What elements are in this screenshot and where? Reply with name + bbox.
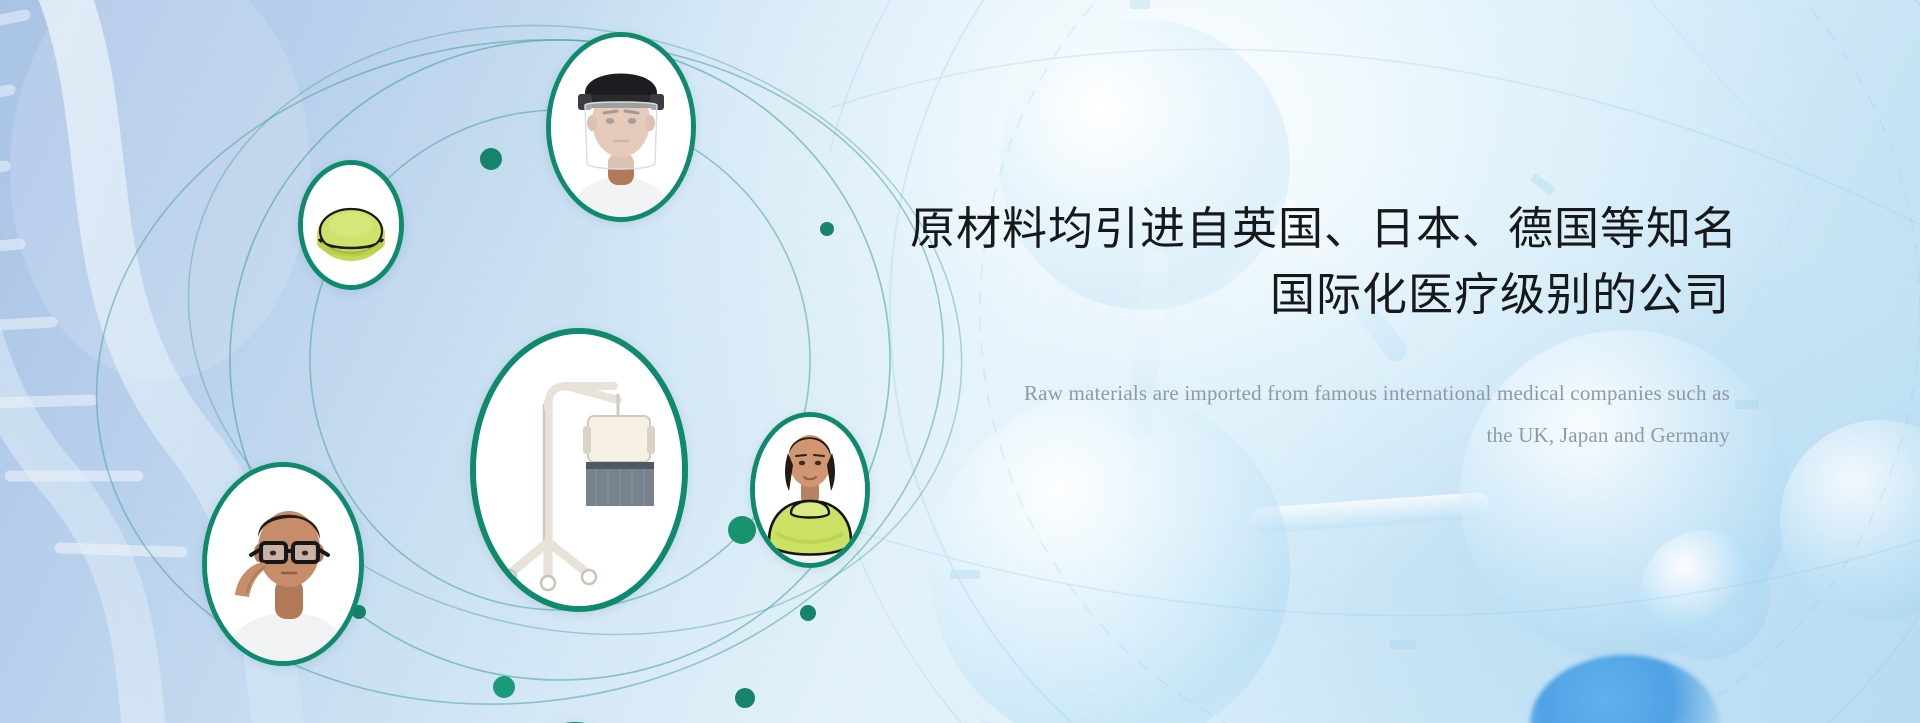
orbit-node-dot (800, 605, 816, 621)
orbit-node-dot (480, 148, 502, 170)
orbit-node-dot (735, 688, 755, 708)
heading-line-1: 原材料均引进自英国、日本、德国等知名 (910, 202, 1738, 255)
molecule-sphere (1780, 420, 1920, 620)
orbit-node-dot (493, 676, 515, 698)
orbit-cluster (0, 0, 1000, 723)
thyroid-collar-photo (755, 417, 865, 563)
product-bubble-mobile-screen[interactable] (470, 328, 688, 612)
heading-line-2: 国际化医疗级别的公司 (910, 262, 1730, 328)
lead-cap-photo (303, 165, 399, 285)
orbit-node-dot (820, 222, 834, 236)
page-title: 原材料均引进自英国、日本、德国等知名 国际化医疗级别的公司 (910, 196, 1730, 328)
molecule-sphere-accent (1530, 655, 1720, 723)
face-shield-helmet-photo (551, 37, 691, 217)
hero-copy-block: 原材料均引进自英国、日本、德国等知名 国际化医疗级别的公司 Raw materi… (910, 196, 1730, 456)
product-bubble-helmet[interactable] (546, 32, 696, 222)
product-bubble-thyroid-collar[interactable] (750, 412, 870, 568)
lead-glasses-photo (207, 467, 359, 661)
hero-subtitle: Raw materials are imported from famous i… (910, 372, 1730, 456)
product-bubble-cap[interactable] (298, 160, 404, 290)
orbit-node-dot (728, 516, 756, 544)
molecule-bond (1249, 492, 1490, 535)
molecule-sphere (1640, 530, 1770, 660)
subtitle-line-1: Raw materials are imported from famous i… (910, 372, 1730, 414)
subtitle-line-2: the UK, Japan and Germany (910, 414, 1730, 456)
product-bubble-glasses[interactable] (202, 462, 364, 666)
hero-banner: 原材料均引进自英国、日本、德国等知名 国际化医疗级别的公司 Raw materi… (0, 0, 1920, 723)
mobile-lead-screen-photo (476, 334, 682, 606)
